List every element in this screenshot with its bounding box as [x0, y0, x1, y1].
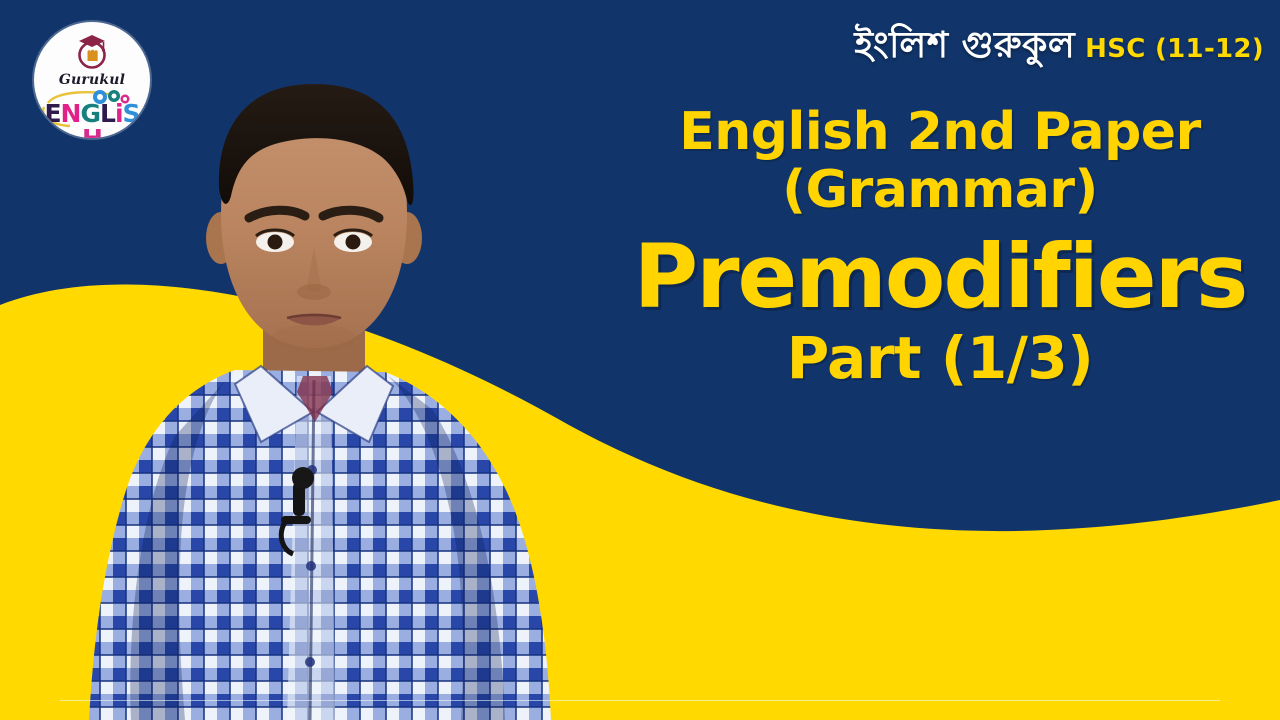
video-thumbnail-stage: Gurukul ENGLiSH ইংলিশ গুরুকুল HSC (11-12…: [0, 0, 1280, 720]
bottom-divider: [60, 700, 1220, 701]
brand-header: ইংলিশ গুরুকুল HSC (11-12): [854, 18, 1264, 78]
logo-wordmark-english: ENGLiSH: [36, 101, 148, 138]
logo-letter-h: H: [82, 126, 102, 138]
logo-letter-e: E: [44, 101, 60, 126]
class-level-badge: HSC (11-12): [1085, 34, 1264, 64]
logo-letter-i: i: [115, 101, 123, 126]
instructor-portrait: [35, 70, 605, 720]
logo-wordmark-gurukul: Gurukul: [59, 72, 125, 88]
logo-letter-n: N: [61, 101, 81, 126]
gurukul-english-logo[interactable]: Gurukul ENGLiSH: [34, 22, 150, 138]
graduation-cap-hand-icon: [72, 31, 112, 71]
logo-letter-s: S: [123, 101, 140, 126]
logo-letter-g: G: [80, 101, 100, 126]
logo-letter-l: L: [100, 101, 115, 126]
brand-name-bangla: ইংলিশ গুরুকুল: [854, 18, 1075, 78]
